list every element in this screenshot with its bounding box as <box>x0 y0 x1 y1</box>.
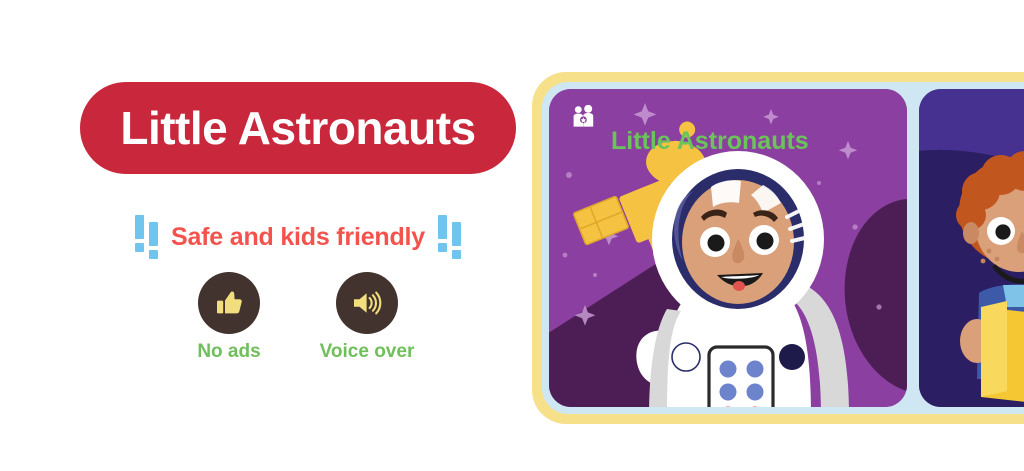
app-card-reading-kid[interactable] <box>919 89 1024 407</box>
badge-circle <box>198 272 260 334</box>
badge-no-ads: No ads <box>174 272 284 363</box>
badge-label: Voice over <box>320 341 415 363</box>
app-cards-frame: Little Astronauts <box>532 72 1024 424</box>
app-cards-strip: Little Astronauts <box>542 82 1024 414</box>
double-exclamation-left-icon <box>135 215 158 259</box>
card-title: Little Astronauts <box>611 127 809 156</box>
badge-voice-over: Voice over <box>312 272 422 363</box>
reading-kid-scene-art <box>919 89 1024 407</box>
badge-label: No ads <box>197 341 260 363</box>
thumbs-up-icon <box>211 285 247 321</box>
tagline-row: Safe and kids friendly <box>80 213 516 261</box>
badge-circle <box>336 272 398 334</box>
speaker-icon <box>349 285 385 321</box>
promo-panel: Little Astronauts Safe and kids friendly… <box>0 0 532 471</box>
feature-badges: No ads Voice over <box>80 272 516 363</box>
page-title: Little Astronauts <box>120 105 475 151</box>
app-title-pill: Little Astronauts <box>80 82 516 174</box>
tagline-text: Safe and kids friendly <box>171 223 425 252</box>
double-exclamation-right-icon <box>438 215 461 259</box>
family-approved-icon <box>571 105 597 136</box>
app-card-little-astronauts[interactable]: Little Astronauts <box>549 89 907 407</box>
